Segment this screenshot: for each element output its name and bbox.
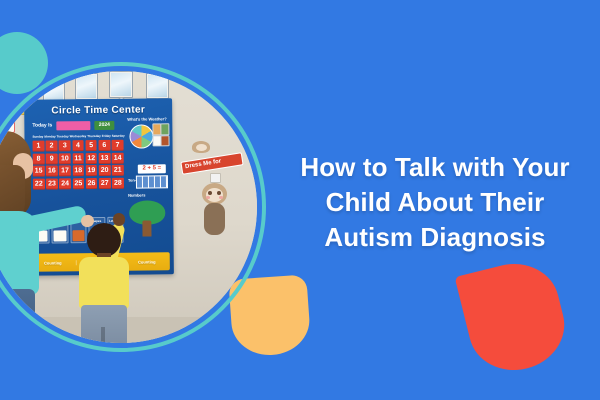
chart-title: Circle Time Center	[24, 104, 172, 117]
calendar-day-tile: 18	[72, 165, 84, 176]
calendar-day-tile: 17	[59, 165, 71, 176]
sloth-eye-left	[208, 191, 212, 195]
teacher-jeans	[0, 289, 35, 343]
weather-card-boots	[160, 135, 169, 146]
sloth-cheek-right	[219, 196, 223, 199]
sloth-mascot-graphic	[199, 183, 229, 239]
equation-card: 2 + 5 =	[138, 164, 166, 173]
weather-section: What's the Weather?	[127, 116, 167, 160]
circular-photo: Sunday Monday Circle Time Center Today I…	[0, 71, 257, 343]
classroom-photo-scene: Sunday Monday Circle Time Center Today I…	[0, 71, 257, 343]
dow-thursday: Thursday	[87, 133, 101, 139]
calendar-day-tile: 10	[59, 153, 71, 164]
weather-heading: What's the Weather?	[127, 116, 166, 121]
calendar-day-tile: 14	[112, 152, 124, 163]
calendar-day-tile: 21	[112, 165, 124, 176]
calendar-day-tile: 11	[72, 153, 84, 164]
child-figure	[73, 211, 143, 343]
numbers-heading: Numbers	[128, 193, 145, 198]
sloth-torso	[204, 203, 225, 235]
dow-saturday: Saturday	[112, 133, 125, 139]
ten-frames-section: Ten-Frames 2 + 5 =	[128, 168, 168, 190]
calendar-day-tile: 19	[86, 165, 98, 176]
child-hand	[113, 213, 125, 226]
calendar-day-tile: 13	[99, 152, 111, 163]
wall-poster	[146, 73, 169, 99]
calendar-day-tile: 27	[99, 177, 111, 188]
tree-trunk-graphic	[142, 220, 151, 236]
sloth-eye-right	[217, 191, 221, 195]
calendar-day-tile: 12	[85, 153, 97, 164]
wall-poster	[75, 73, 98, 100]
calendar-day-tile: 6	[98, 140, 110, 151]
weather-card-hat	[160, 123, 169, 135]
today-date-card	[56, 121, 90, 130]
child-shirt	[79, 257, 129, 309]
sloth-peeking-graphic	[188, 141, 222, 157]
graphic-canvas: Sunday Monday Circle Time Center Today I…	[0, 0, 600, 400]
sloth-hook-icon	[210, 173, 221, 183]
calendar-day-tile: 5	[85, 140, 97, 151]
dow-wednesday: Wednesday	[70, 133, 87, 139]
calendar-day-tile: 24	[59, 178, 71, 189]
headline-line-3: Autism Diagnosis	[300, 220, 570, 255]
calendar-day-tile: 3	[59, 140, 71, 151]
child-shorts-shadow	[101, 327, 105, 343]
calendar-day-tile: 26	[86, 178, 98, 189]
calendar-day-tile: 20	[99, 165, 111, 176]
headline-line-2: Child About Their	[300, 185, 570, 220]
today-date-row: 2024	[34, 121, 118, 131]
calendar-day-tile: 28	[112, 177, 124, 188]
weather-wheel-icon	[129, 124, 153, 148]
red-leaf-decoration	[455, 254, 574, 380]
calendar-day-tile: 4	[72, 140, 84, 151]
year-card: 2024	[94, 121, 114, 130]
ten-frame-grid	[136, 175, 168, 188]
page-title: How to Talk with Your Child About Their …	[300, 150, 570, 255]
calendar-day-tile: 7	[112, 140, 124, 151]
teacher-figure	[0, 131, 59, 343]
calendar-day-tile: 25	[72, 178, 84, 189]
child-head	[87, 223, 121, 257]
headline-line-1: How to Talk with Your	[300, 150, 570, 185]
dow-friday: Friday	[102, 133, 111, 139]
wall-poster	[109, 71, 133, 98]
sloth-cheek-left	[206, 196, 210, 199]
